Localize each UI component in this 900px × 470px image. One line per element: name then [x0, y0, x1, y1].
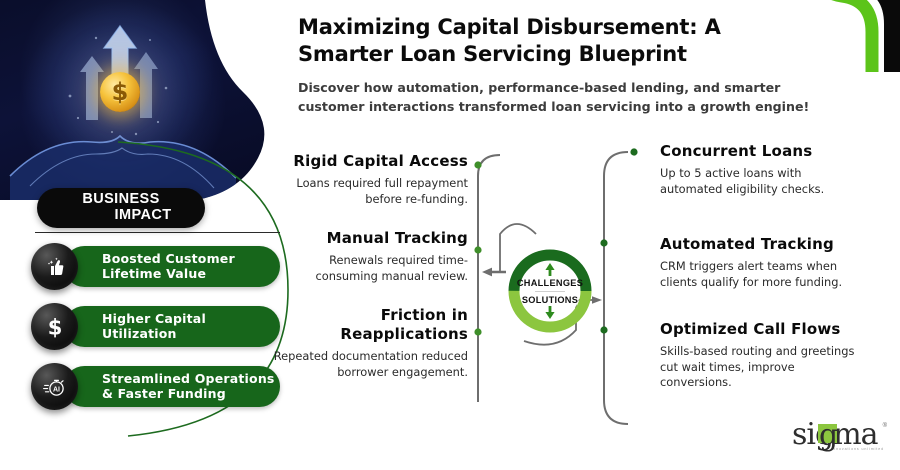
impact-label: Higher Capital Utilization [102, 312, 206, 341]
right-node-dot-2 [600, 239, 607, 246]
left-node-dot-2 [474, 246, 481, 253]
challenge-title: Manual Tracking [272, 229, 468, 248]
impact-label: Streamlined Operations & Faster Funding [102, 372, 275, 401]
challenge-item-1[interactable]: Rigid Capital Access Loans required full… [272, 152, 468, 207]
hero-image-panel [0, 0, 292, 200]
sigma-logo: sigma g ® innovations unlimited [792, 420, 888, 462]
solution-body: Skills-based routing and greetings cut w… [660, 344, 856, 391]
page-subtitle: Discover how automation, performance-bas… [298, 78, 843, 116]
page-title: Maximizing Capital Disbursement: A Smart… [298, 14, 818, 68]
challenge-title: Rigid Capital Access [272, 152, 468, 171]
challenge-item-2[interactable]: Manual Tracking Renewals required time-c… [272, 229, 468, 284]
business-impact-list: Boosted Customer Lifetime Value Higher C… [28, 243, 288, 423]
right-node-dot-1 [630, 148, 637, 155]
solutions-column: Concurrent Loans Up to 5 active loans wi… [660, 142, 856, 409]
challenge-body: Loans required full repayment before re-… [272, 176, 468, 207]
business-impact-badge: BUSINESS IMPACT [37, 188, 205, 228]
solution-body: Up to 5 active loans with automated elig… [660, 166, 856, 197]
challenge-body: Repeated documentation reduced borrower … [272, 349, 468, 380]
challenge-item-3[interactable]: Friction in Reapplications Repeated docu… [272, 306, 468, 380]
solution-item-3[interactable]: Optimized Call Flows Skills-based routin… [660, 320, 856, 391]
dollar-sign-icon: $ [31, 303, 78, 350]
right-arrowhead [592, 296, 602, 304]
solution-title: Automated Tracking [660, 235, 856, 254]
dollar-coin-icon [100, 72, 140, 112]
impact-label: Boosted Customer Lifetime Value [102, 252, 235, 281]
solution-item-1[interactable]: Concurrent Loans Up to 5 active loans wi… [660, 142, 856, 197]
solution-title: Concurrent Loans [660, 142, 856, 161]
left-node-dot-1 [474, 161, 481, 168]
svg-text:AI: AI [53, 386, 60, 393]
section-divider [35, 232, 280, 233]
business-impact-label-line2: IMPACT [71, 207, 172, 224]
list-item[interactable]: Streamlined Operations & Faster Funding … [28, 363, 288, 410]
right-node-dot-3 [600, 326, 607, 333]
hub-label-solutions: SOLUTIONS [522, 295, 578, 305]
impact-bar: Boosted Customer Lifetime Value [64, 246, 280, 287]
list-item[interactable]: Boosted Customer Lifetime Value [28, 243, 288, 290]
solution-body: CRM triggers alert teams when clients qu… [660, 259, 856, 290]
challenge-title: Friction in Reapplications [272, 306, 468, 344]
challenge-body: Renewals required time-consuming manual … [272, 253, 468, 284]
hub-label-challenges: CHALLENGES [517, 278, 583, 288]
challenges-column: Rigid Capital Access Loans required full… [272, 152, 468, 398]
solution-item-2[interactable]: Automated Tracking CRM triggers alert te… [660, 235, 856, 290]
challenges-solutions-hub: CHALLENGES SOLUTIONS [508, 249, 592, 333]
list-item[interactable]: Higher Capital Utilization $ [28, 303, 288, 350]
business-impact-label-line1: BUSINESS [82, 192, 159, 207]
solution-title: Optimized Call Flows [660, 320, 856, 339]
ai-stopwatch-icon: AI [31, 363, 78, 410]
left-node-dot-3 [474, 328, 481, 335]
left-arrowhead [482, 268, 492, 277]
infographic-canvas: BUSINESS IMPACT Boosted Customer Lifetim… [0, 0, 900, 470]
svg-text:$: $ [47, 315, 62, 339]
impact-bar: Higher Capital Utilization [64, 306, 280, 347]
hero-clip-mask [0, 0, 292, 200]
logo-g-glyph: g [819, 421, 838, 451]
thumbs-up-sparkle-icon [31, 243, 78, 290]
impact-bar: Streamlined Operations & Faster Funding [64, 366, 280, 407]
registered-mark-icon: ® [883, 423, 887, 429]
hub-divider [535, 291, 565, 292]
